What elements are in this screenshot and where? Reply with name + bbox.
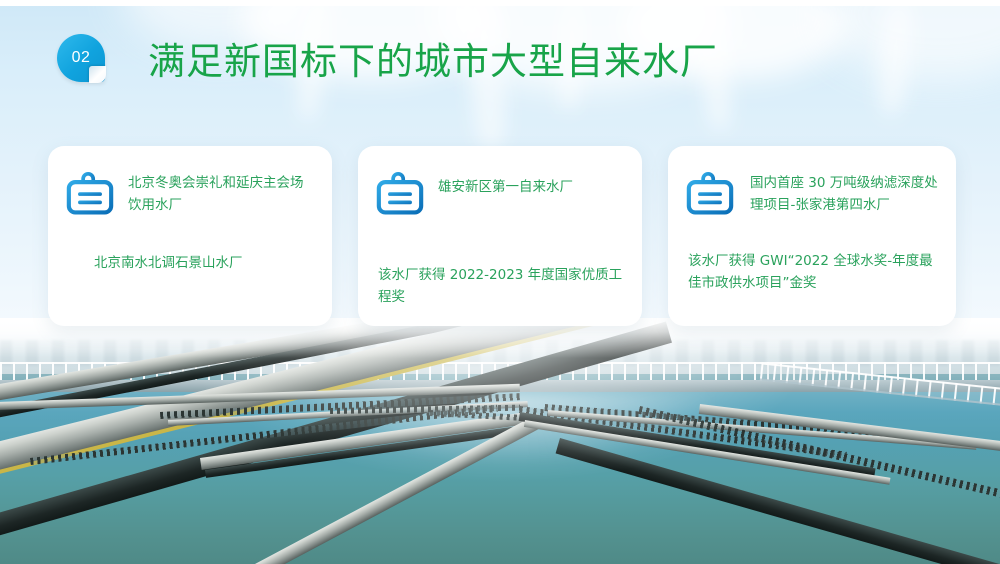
id-badge-icon bbox=[686, 172, 734, 218]
card-body: 该水厂获得 2022-2023 年度国家优质工程奖 bbox=[376, 264, 624, 308]
id-badge-icon bbox=[66, 172, 114, 218]
slide-root: 02 满足新国标下的城市大型自来水厂 bbox=[0, 0, 1000, 564]
id-badge-icon bbox=[376, 172, 424, 218]
card-header: 雄安新区第一自来水厂 bbox=[376, 170, 624, 218]
card-header: 北京冬奥会崇礼和延庆主会场饮用水厂 bbox=[66, 170, 314, 218]
top-white-bar bbox=[0, 0, 1000, 6]
water-plant-photo bbox=[0, 318, 1000, 564]
card-header: 国内首座 30 万吨级纳滤深度处理项目-张家港第四水厂 bbox=[686, 170, 938, 218]
card-title: 北京冬奥会崇礼和延庆主会场饮用水厂 bbox=[128, 170, 314, 216]
section-number-badge: 02 bbox=[57, 34, 105, 82]
card-title: 雄安新区第一自来水厂 bbox=[438, 170, 573, 198]
info-card[interactable]: 北京冬奥会崇礼和延庆主会场饮用水厂 北京南水北调石景山水厂 bbox=[48, 146, 332, 326]
card-body: 该水厂获得 GWI“2022 全球水奖-年度最佳市政供水项目”金奖 bbox=[686, 250, 938, 294]
card-title: 国内首座 30 万吨级纳滤深度处理项目-张家港第四水厂 bbox=[750, 170, 938, 216]
info-card[interactable]: 国内首座 30 万吨级纳滤深度处理项目-张家港第四水厂 该水厂获得 GWI“20… bbox=[668, 146, 956, 326]
page-title: 满足新国标下的城市大型自来水厂 bbox=[148, 40, 718, 84]
info-card[interactable]: 雄安新区第一自来水厂 该水厂获得 2022-2023 年度国家优质工程奖 bbox=[358, 146, 642, 326]
card-body: 北京南水北调石景山水厂 bbox=[66, 252, 314, 274]
card-row: 北京冬奥会崇礼和延庆主会场饮用水厂 北京南水北调石景山水厂 bbox=[48, 146, 956, 326]
badge-fold-corner bbox=[89, 66, 106, 83]
